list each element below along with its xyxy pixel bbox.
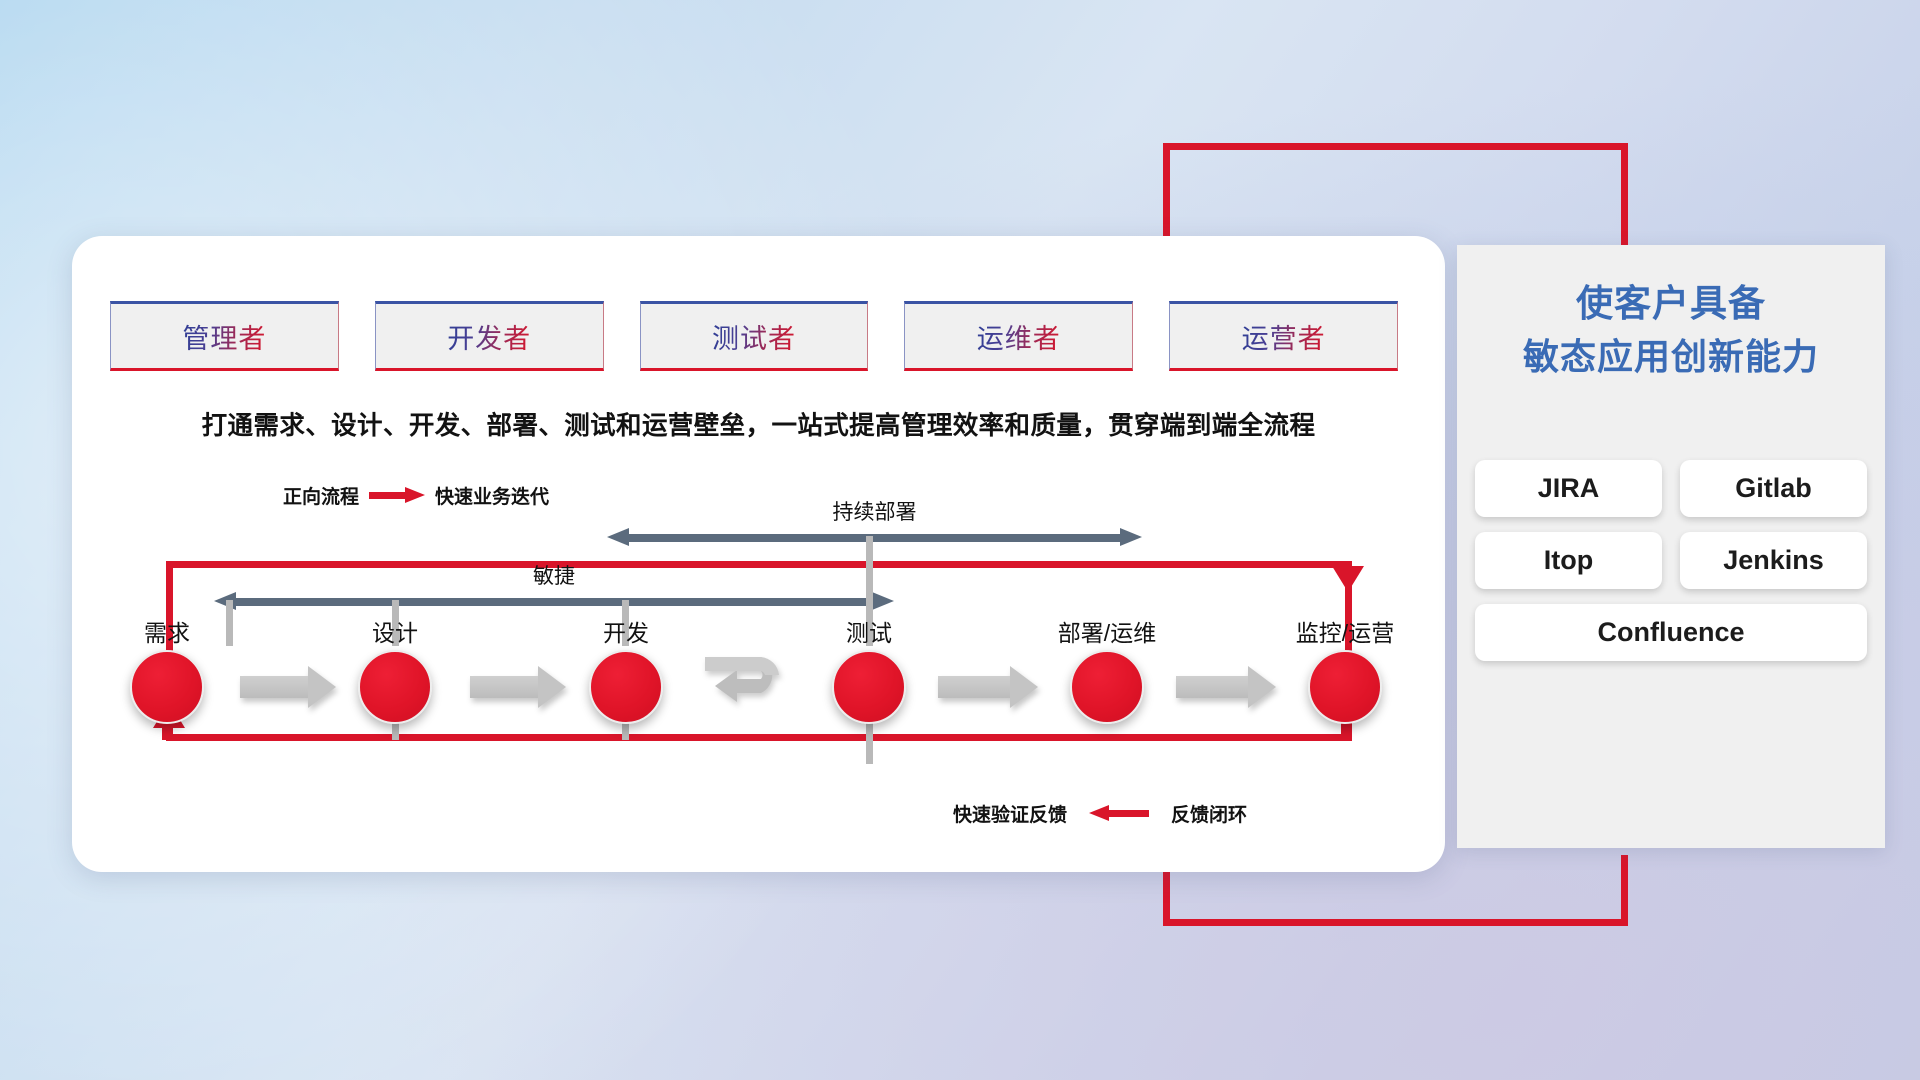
role-label: 开发者	[447, 317, 531, 356]
flow-arrow-deploy-to-monitor	[1176, 666, 1276, 708]
panel-title-line1: 使客户具备	[1457, 277, 1885, 331]
span-arrow-continuous-deployment: 持续部署	[607, 528, 1142, 546]
node-label: 设计	[372, 614, 418, 648]
node-monitor-operate[interactable]: 监控/运营	[1308, 650, 1382, 724]
tool-chip-list: JIRA Gitlab Itop Jenkins Confluence	[1475, 460, 1867, 661]
arrow-right-red-icon	[369, 487, 425, 504]
node-label: 监控/运营	[1296, 614, 1394, 648]
node-dot	[1070, 650, 1144, 724]
arrow-shaft	[240, 676, 310, 698]
node-dot	[130, 650, 204, 724]
cycle-loop-arrow-icon	[703, 648, 799, 716]
node-dot	[589, 650, 663, 724]
legend-forward-left-label: 正向流程	[283, 482, 359, 509]
node-dot	[358, 650, 432, 724]
arrow-shaft	[938, 676, 1012, 698]
tool-chip-confluence[interactable]: Confluence	[1475, 604, 1867, 661]
arrow-head-right-icon	[1248, 666, 1276, 708]
role-box-operator[interactable]: 运营者	[1169, 301, 1398, 371]
role-box-manager[interactable]: 管理者	[110, 301, 339, 371]
node-deploy-ops[interactable]: 部署/运维	[1070, 650, 1144, 724]
legend-feedback-right-label: 反馈闭环	[1171, 800, 1247, 827]
span-arrow-agile: 敏捷	[214, 592, 894, 610]
role-label: 管理者	[182, 317, 266, 356]
node-label: 需求	[144, 614, 190, 648]
arrow-shaft	[470, 676, 540, 698]
panel-title-line2: 敏态应用创新能力	[1457, 331, 1885, 383]
tool-chip-itop[interactable]: Itop	[1475, 532, 1662, 589]
role-box-tester[interactable]: 测试者	[640, 301, 869, 371]
panel-title: 使客户具备 敏态应用创新能力	[1457, 277, 1885, 383]
arrow-left-red-icon	[1089, 805, 1149, 822]
tool-chip-jenkins[interactable]: Jenkins	[1680, 532, 1867, 589]
outer-bracket-top	[1163, 143, 1628, 150]
node-develop[interactable]: 开发	[589, 650, 663, 724]
slide-canvas: 管理者 开发者 测试者 运维者 运营者 打通需求、设计、开发、部署、测试和运营壁…	[0, 0, 1920, 1080]
tool-chip-gitlab[interactable]: Gitlab	[1680, 460, 1867, 517]
headline-text: 打通需求、设计、开发、部署、测试和运营壁垒，一站式提高管理效率和质量，贯穿端到端…	[72, 405, 1445, 442]
flow-arrow-test-to-deploy	[938, 666, 1038, 708]
node-design[interactable]: 设计	[358, 650, 432, 724]
legend-feedback-loop: 快速验证反馈 反馈闭环	[953, 800, 1247, 827]
arrow-shaft	[1176, 676, 1250, 698]
node-label: 部署/运维	[1058, 614, 1156, 648]
arrow-head-right-icon	[872, 592, 894, 610]
node-label: 测试	[846, 614, 892, 648]
arrow-head-left-icon	[607, 528, 629, 546]
legend-forward-flow: 正向流程 快速业务迭代	[283, 482, 549, 509]
role-box-row: 管理者 开发者 测试者 运维者 运营者	[110, 301, 1398, 371]
legend-feedback-left-label: 快速验证反馈	[953, 800, 1067, 827]
node-dot	[1308, 650, 1382, 724]
node-dot	[832, 650, 906, 724]
arrow-shaft	[234, 598, 874, 606]
value-panel: 使客户具备 敏态应用创新能力 JIRA Gitlab Itop Jenkins …	[1457, 245, 1885, 848]
role-box-ops[interactable]: 运维者	[904, 301, 1133, 371]
role-label: 运维者	[977, 317, 1061, 356]
role-label: 测试者	[712, 317, 796, 356]
role-label: 运营者	[1242, 317, 1326, 356]
stub-agile-to-requirement	[226, 600, 233, 646]
flow-arrow-design-to-develop	[470, 666, 566, 708]
span-label-agile: 敏捷	[214, 560, 894, 590]
node-requirement[interactable]: 需求	[130, 650, 204, 724]
outer-bracket-right-lower	[1621, 855, 1628, 926]
arrow-head-right-icon	[538, 666, 566, 708]
flow-loop-bottom	[166, 734, 1352, 741]
flow-loop-arrowhead-down-icon	[1332, 566, 1364, 592]
arrow-shaft	[627, 534, 1122, 542]
arrow-head-right-icon	[1010, 666, 1038, 708]
outer-bracket-bottom	[1163, 919, 1628, 926]
node-test[interactable]: 测试	[832, 650, 906, 724]
span-label-continuous-deployment: 持续部署	[607, 496, 1142, 526]
node-label: 开发	[603, 614, 649, 648]
flow-arrow-requirement-to-design	[240, 666, 336, 708]
arrow-head-right-icon	[308, 666, 336, 708]
arrow-head-right-icon	[1120, 528, 1142, 546]
legend-forward-right-label: 快速业务迭代	[435, 482, 549, 509]
role-box-developer[interactable]: 开发者	[375, 301, 604, 371]
tool-chip-jira[interactable]: JIRA	[1475, 460, 1662, 517]
